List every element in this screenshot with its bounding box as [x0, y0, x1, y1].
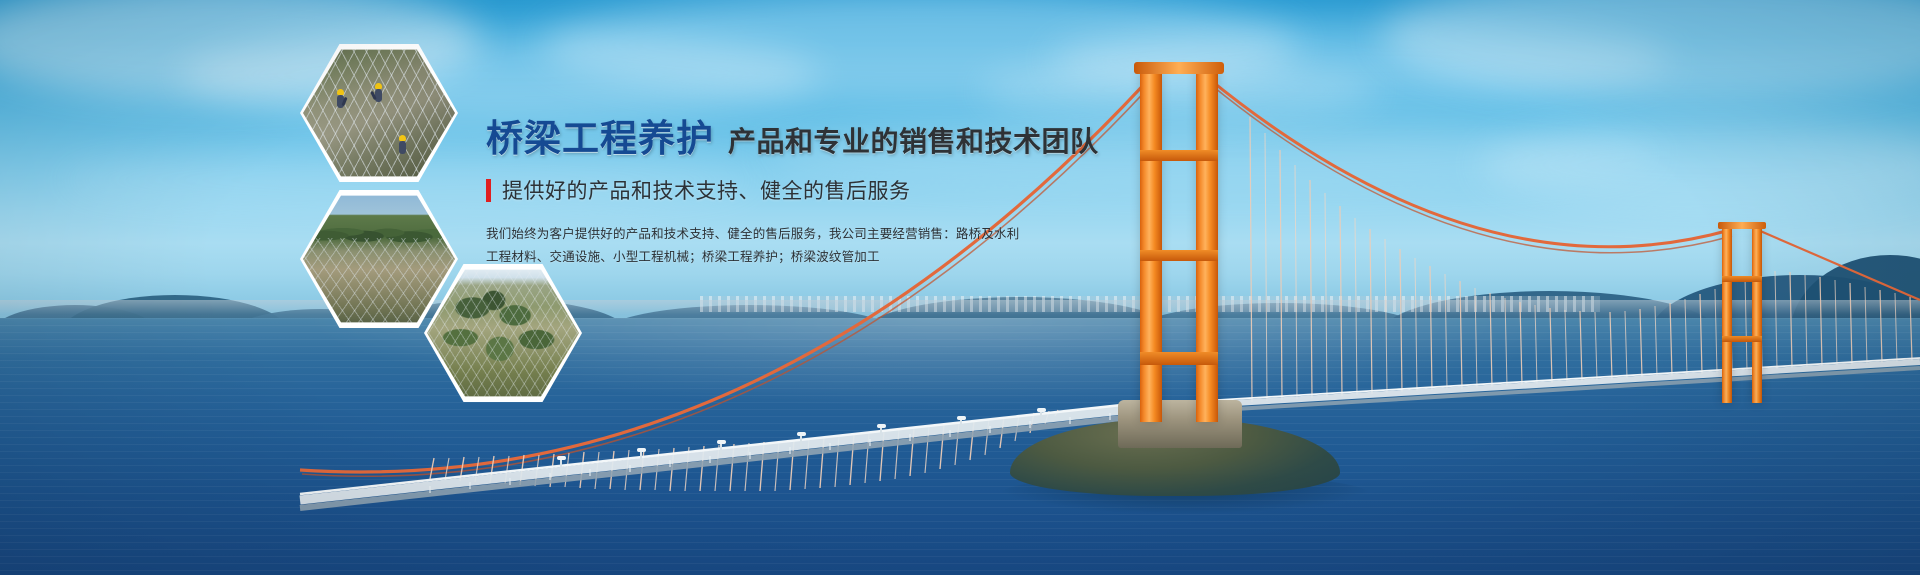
headline-secondary: 产品和专业的销售和技术团队 [728, 126, 1099, 157]
bridge-tower-main-right-leg [1196, 70, 1218, 422]
bridge-cables [0, 0, 1920, 575]
paragraph-line-1: 我们始终为客户提供好的产品和技术支持、健全的售后服务，我公司主要经营销售：路桥及… [486, 223, 1006, 246]
paragraph-line-2: 工程材料、交通设施、小型工程机械；桥梁工程养护；桥梁波纹管加工 [486, 246, 1006, 269]
deck-lamp [720, 444, 722, 457]
accent-bar [486, 179, 491, 202]
deck-lamp [880, 428, 882, 440]
banner-headline: 桥梁工程养护产品和专业的销售和技术团队 [486, 120, 1006, 157]
deck-lamp [640, 452, 642, 466]
deck-lamp [1040, 412, 1042, 423]
bridge-tower-far-crossbeam [1722, 276, 1762, 282]
deck-lamp [800, 436, 802, 449]
deck-lamp [960, 420, 962, 432]
banner-subheading: 提供好的产品和技术支持、健全的售后服务 [486, 175, 1006, 205]
bridge-pier [1118, 400, 1242, 448]
suspension-bridge [0, 0, 1920, 575]
bridge-tower-crossbeam [1140, 250, 1218, 261]
bridge-tower-far-right-leg [1752, 228, 1762, 403]
deck-lamp [560, 460, 562, 474]
bridge-tower-main-cap [1134, 62, 1224, 74]
bridge-tower-crossbeam [1140, 352, 1218, 365]
banner-paragraph: 我们始终为客户提供好的产品和技术支持、健全的售后服务，我公司主要经营销售：路桥及… [486, 223, 1006, 269]
headline-primary: 桥梁工程养护 [486, 118, 714, 159]
bridge-tower-far-cap [1718, 222, 1766, 229]
hero-banner: 桥梁工程养护产品和专业的销售和技术团队 提供好的产品和技术支持、健全的售后服务 … [0, 0, 1920, 575]
bridge-tower-far-crossbeam [1722, 336, 1762, 342]
banner-text-block: 桥梁工程养护产品和专业的销售和技术团队 提供好的产品和技术支持、健全的售后服务 … [486, 120, 1006, 269]
subheading-text: 提供好的产品和技术支持、健全的售后服务 [502, 175, 911, 205]
bridge-tower-main-left-leg [1140, 70, 1162, 422]
bridge-tower-far-left-leg [1722, 228, 1732, 403]
bridge-tower-crossbeam [1140, 150, 1218, 161]
